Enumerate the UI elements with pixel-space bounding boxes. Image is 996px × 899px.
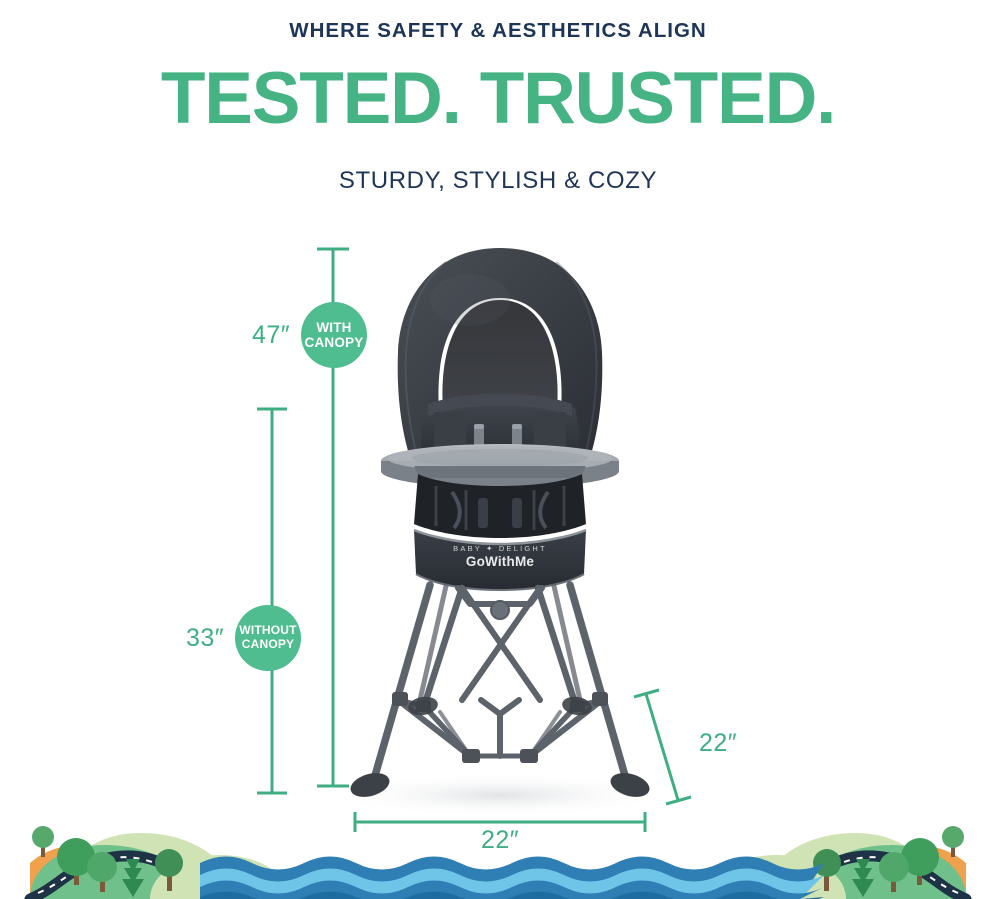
badge-with-canopy-line1: WITH	[305, 320, 364, 335]
brand-logo: BABY ✦ DELIGHT GoWithMe	[453, 544, 547, 569]
height-with-canopy-label: 47″	[252, 321, 290, 350]
decorative-landscape-border	[0, 789, 996, 899]
badge-without-canopy-line2: CANOPY	[239, 638, 296, 652]
badge-without-canopy-line1: WITHOUT	[239, 624, 296, 638]
tray-graphic	[381, 444, 619, 488]
badge-with-canopy-line2: CANOPY	[305, 335, 364, 350]
depth-label: 22″	[699, 729, 737, 758]
brand-name-text: BABY ✦ DELIGHT	[453, 544, 547, 553]
product-image-baby-chair: BABY ✦ DELIGHT GoWithMe	[0, 0, 996, 899]
product-name-text: GoWithMe	[466, 554, 535, 569]
badge-with-canopy: WITH CANOPY	[301, 302, 367, 368]
chair-frame-graphic	[372, 585, 628, 786]
water-waves	[200, 857, 824, 899]
height-without-canopy-label: 33″	[186, 624, 224, 653]
badge-without-canopy: WITHOUT CANOPY	[235, 605, 301, 671]
infographic-page: WHERE SAFETY & AESTHETICS ALIGN TESTED. …	[0, 0, 996, 899]
